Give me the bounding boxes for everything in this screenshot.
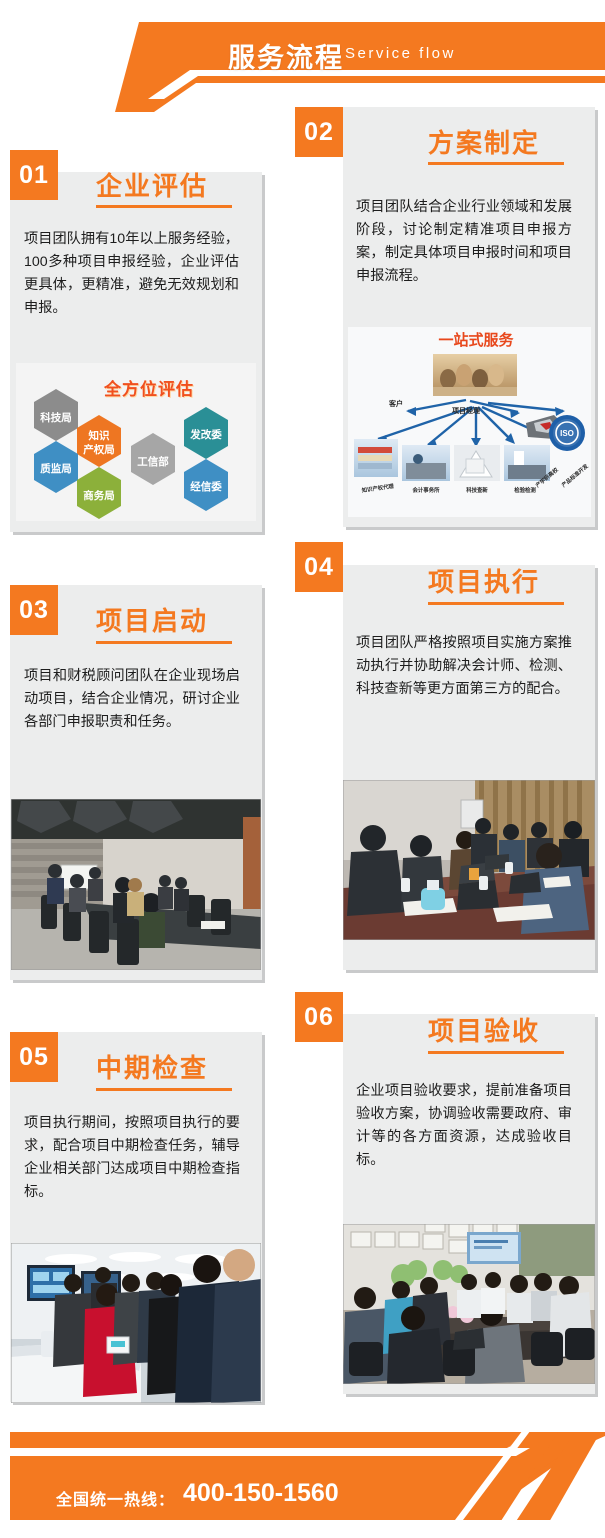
- svg-text:商务局: 商务局: [83, 489, 115, 502]
- flow-label-1: 会计事务所: [413, 486, 441, 494]
- service-flow-infographic: 服务流程 Service flow 01 企业评估 项目团队拥有10年以上服务经…: [0, 0, 605, 1538]
- flow-label-2: 科技查新: [466, 486, 488, 494]
- card-04-body: 项目团队严格按照项目实施方案推动执行并协助解决会计师、检测、科技查新等更方面第三…: [356, 632, 572, 701]
- card-01-media-caption: 全方位评估: [104, 375, 194, 400]
- card-06-title-rule: [428, 1051, 564, 1054]
- card-06-badge: 06: [295, 992, 343, 1042]
- photo-acceptance-meeting-presentation: [343, 1224, 595, 1384]
- svg-text:科技局: 科技局: [40, 411, 72, 424]
- footer-banner: [0, 1414, 605, 1538]
- svg-text:质监局: 质监局: [40, 462, 72, 475]
- card-06-photo: [343, 1224, 595, 1384]
- svg-text:发改委: 发改委: [189, 428, 222, 441]
- card-05-photo: [11, 1243, 261, 1403]
- card-01-title-rule: [96, 205, 232, 208]
- card-01-media: 科技局 知识 产权局 发改委 质监局 工信部 商务局: [16, 363, 256, 521]
- svg-text:产权局: 产权局: [83, 443, 115, 456]
- card-05-badge: 05: [10, 1032, 58, 1082]
- card-05-body: 项目执行期间，按照项目执行的要求，配合项目中期检查任务，辅导企业相关部门达成项目…: [24, 1112, 240, 1204]
- card-03-title: 项目启动: [96, 601, 208, 638]
- photo-team-working-laptops-meeting: [343, 780, 595, 940]
- card-06-body: 企业项目验收要求，提前准备项目验收方案，协调验收需要政府、审计等的各方面资源，达…: [356, 1080, 572, 1172]
- flow-top-photo: [433, 354, 517, 396]
- photo-site-visit-reception-tour: [11, 1243, 261, 1403]
- svg-text:经信委: 经信委: [190, 480, 222, 493]
- card-02-title: 方案制定: [428, 123, 540, 160]
- svg-text:工信部: 工信部: [137, 455, 169, 468]
- card-05-title: 中期检查: [96, 1048, 208, 1085]
- header-banner: 服务流程 Service flow: [0, 0, 605, 112]
- flow-node-项目经理: 项目经理: [452, 406, 480, 415]
- card-04-title-rule: [428, 602, 564, 605]
- hotline-phone[interactable]: 400-150-1560: [183, 1479, 339, 1508]
- card-06-title: 项目验收: [428, 1011, 540, 1048]
- card-01-badge: 01: [10, 150, 58, 200]
- iso-badge: ISO: [549, 415, 585, 451]
- card-05-title-rule: [96, 1088, 232, 1091]
- page-title: 服务流程: [228, 36, 344, 75]
- hotline-label: 全国统一热线：: [56, 1486, 175, 1510]
- card-04-badge: 04: [295, 542, 343, 592]
- photo-meeting-room-conference-table: [11, 799, 261, 970]
- page-subtitle: Service flow: [345, 45, 456, 62]
- card-01-title: 企业评估: [96, 166, 208, 203]
- flow-title: 一站式服务: [438, 331, 514, 349]
- card-02-title-rule: [428, 162, 564, 165]
- card-01-body: 项目团队拥有10年以上服务经验，100多种项目申报经验，企业评估更具体，更精准，…: [24, 228, 239, 320]
- card-03-badge: 03: [10, 585, 58, 635]
- one-stop-service-diagram: 一站式服务: [348, 327, 591, 517]
- flow-label-3: 检验检测: [514, 486, 536, 494]
- card-02-badge: 02: [295, 107, 343, 157]
- card-03-photo: [11, 799, 261, 970]
- card-03-body: 项目和财税顾问团队在企业现场启动项目，结合企业情况，研讨企业各部门申报职责和任务…: [24, 665, 240, 734]
- footer-mask: [0, 1414, 605, 1538]
- card-03-title-rule: [96, 641, 232, 644]
- svg-text:知识: 知识: [89, 429, 110, 442]
- card-04-photo: [343, 780, 595, 940]
- card-04-title: 项目执行: [428, 562, 540, 599]
- card-02-media: 一站式服务: [348, 327, 591, 517]
- card-02-body: 项目团队结合企业行业领域和发展阶段，讨论制定精准项目申报方案，制定具体项目申报时…: [356, 196, 572, 288]
- svg-text:ISO: ISO: [560, 429, 574, 438]
- flow-node-客户: 客户: [388, 399, 403, 408]
